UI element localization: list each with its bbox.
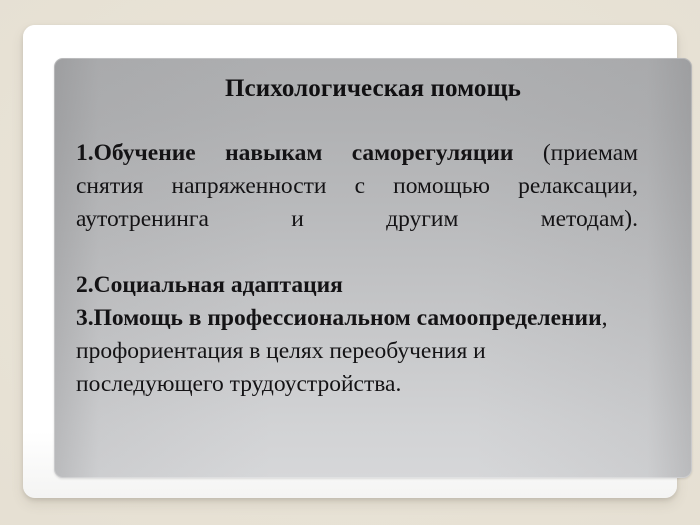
content-panel: Психологическая помощь 1.Обучение навыка… bbox=[54, 58, 692, 478]
slide-card: Психологическая помощь 1.Обучение навыка… bbox=[23, 25, 677, 498]
list-item-1-heading: 1.Обучение навыкам саморегуляции bbox=[76, 140, 513, 166]
body-content: 1.Обучение навыкам саморегуляции (приема… bbox=[76, 137, 638, 401]
list-item-2-heading: 2.Социальная адаптация bbox=[76, 272, 343, 298]
list-item-1: 1.Обучение навыкам саморегуляции (приема… bbox=[76, 137, 638, 269]
slide: Психологическая помощь 1.Обучение навыка… bbox=[0, 0, 700, 525]
list-item-2: 2.Социальная адаптация bbox=[76, 269, 638, 302]
page-title: Психологическая помощь bbox=[54, 75, 692, 104]
list-item-3-heading: 3.Помощь в профессиональном самоопределе… bbox=[76, 305, 602, 331]
list-item-3: 3.Помощь в профессиональном самоопределе… bbox=[76, 302, 638, 401]
